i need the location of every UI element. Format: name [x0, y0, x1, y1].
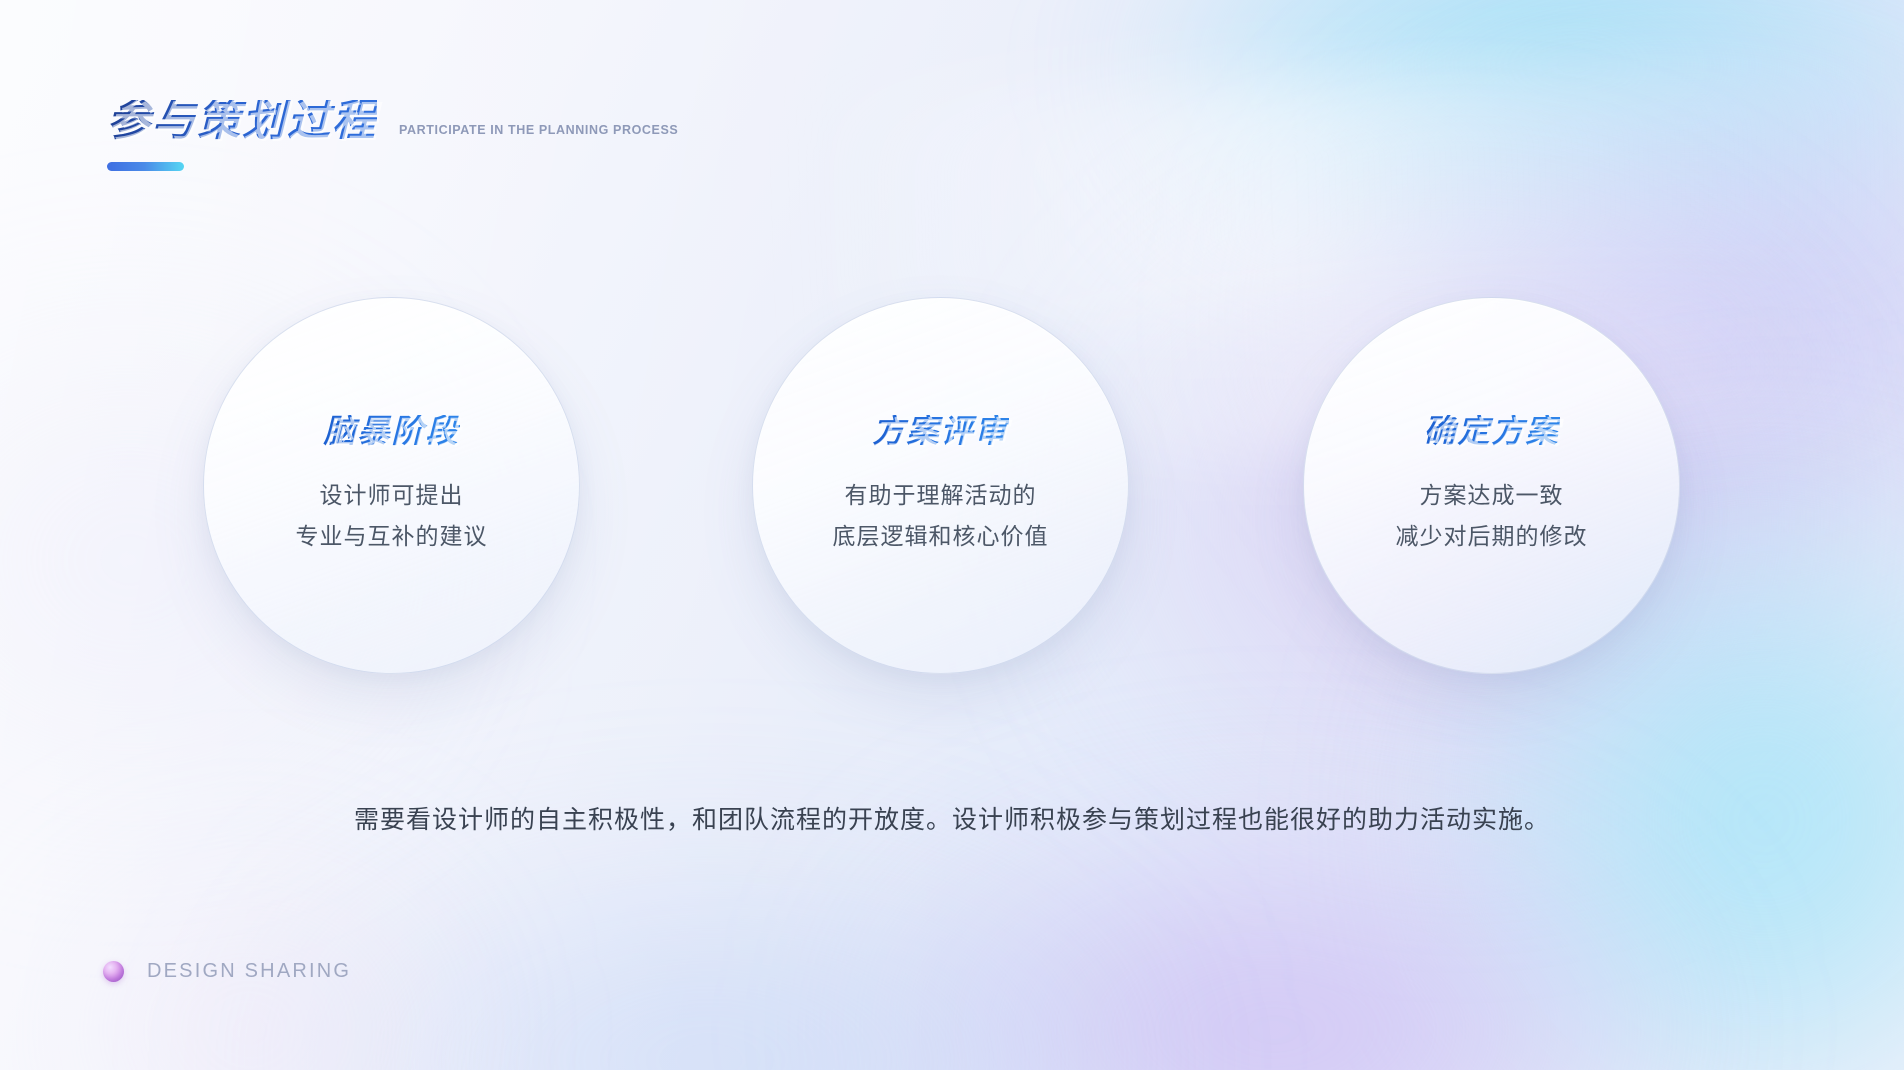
card-circle-3[interactable]: 确定方案 方案达成一致 减少对后期的修改 [1303, 297, 1680, 674]
sphere-icon [103, 961, 124, 982]
card-body-2-line-1: 有助于理解活动的 [833, 475, 1049, 516]
card-body-3-line-1: 方案达成一致 [1396, 475, 1588, 516]
page-header: 参与策划过程 PARTICIPATE IN THE PLANNING PROCE… [107, 100, 678, 143]
card-body-2: 有助于理解活动的 底层逻辑和核心价值 [833, 475, 1049, 557]
card-body-1-line-1: 设计师可提出 [296, 475, 488, 516]
card-title-1: 脑暴阶段 [323, 415, 459, 447]
footer: DESIGN SHARING [103, 960, 351, 983]
summary-caption: 需要看设计师的自主积极性，和团队流程的开放度。设计师积极参与策划过程也能很好的助… [0, 800, 1904, 836]
footer-label: DESIGN SHARING [147, 960, 351, 983]
card-body-3-line-2: 减少对后期的修改 [1396, 516, 1588, 557]
card-body-1: 设计师可提出 专业与互补的建议 [296, 475, 488, 557]
card-title-3: 确定方案 [1423, 415, 1559, 447]
title-accent-bar [107, 162, 184, 171]
page-subtitle: PARTICIPATE IN THE PLANNING PROCESS [399, 123, 678, 143]
card-body-1-line-2: 专业与互补的建议 [296, 516, 488, 557]
card-title-2: 方案评审 [872, 415, 1008, 447]
page-title: 参与策划过程 [107, 100, 377, 143]
card-body-2-line-2: 底层逻辑和核心价值 [833, 516, 1049, 557]
card-circle-2[interactable]: 方案评审 有助于理解活动的 底层逻辑和核心价值 [752, 297, 1129, 674]
cards-row: 脑暴阶段 设计师可提出 专业与互补的建议 方案评审 有助于理解活动的 底层逻辑和… [0, 287, 1904, 687]
card-circle-1[interactable]: 脑暴阶段 设计师可提出 专业与互补的建议 [203, 297, 580, 674]
slide-canvas: 参与策划过程 PARTICIPATE IN THE PLANNING PROCE… [0, 0, 1904, 1070]
card-body-3: 方案达成一致 减少对后期的修改 [1396, 475, 1588, 557]
